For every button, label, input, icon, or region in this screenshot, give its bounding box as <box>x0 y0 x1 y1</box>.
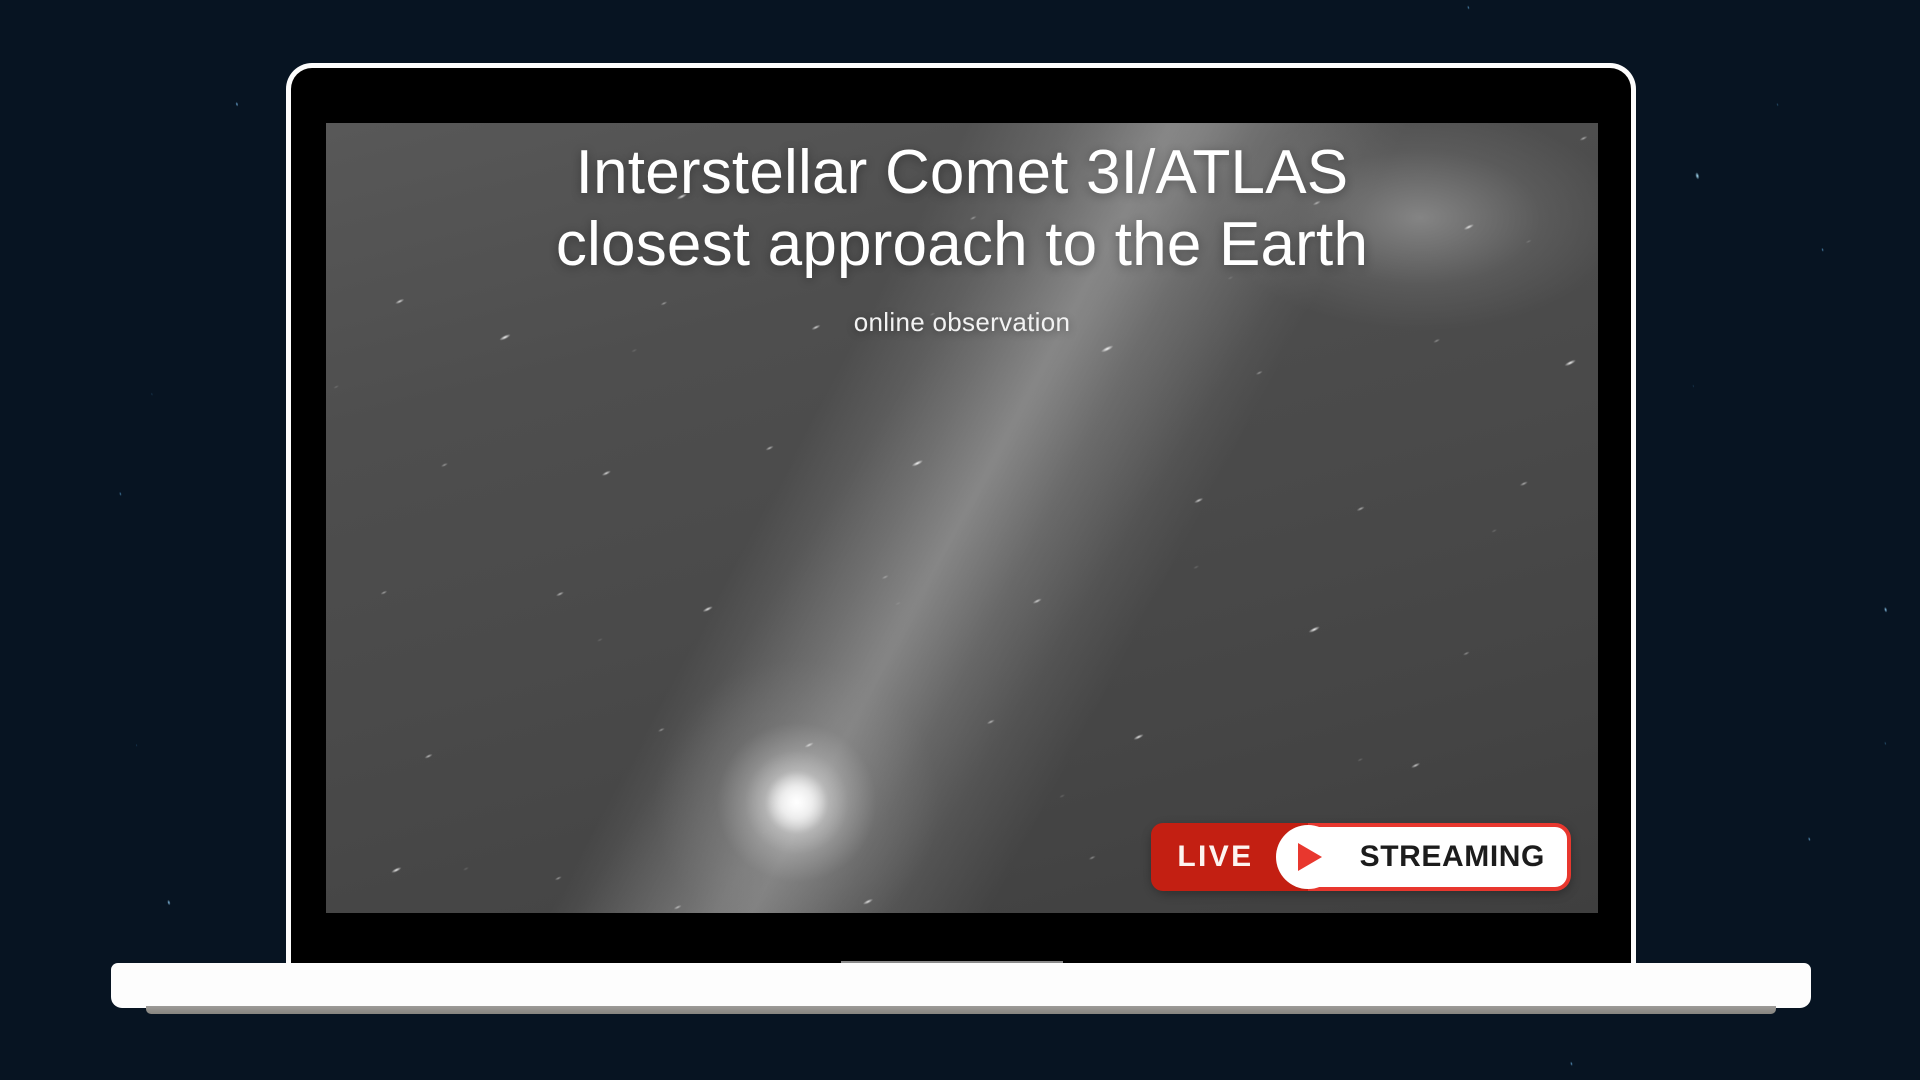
live-streaming-badge[interactable]: LIVE STREAMING <box>1151 823 1571 891</box>
live-badge-section: LIVE <box>1151 823 1307 891</box>
laptop-mockup: Interstellar Comet 3I/ATLAS closest appr… <box>286 63 1636 1003</box>
play-icon[interactable] <box>1276 825 1340 889</box>
laptop-screen: Interstellar Comet 3I/ATLAS closest appr… <box>326 123 1598 913</box>
laptop-base <box>111 963 1811 1008</box>
streaming-label: STREAMING <box>1360 840 1545 874</box>
laptop-lid-bezel: Interstellar Comet 3I/ATLAS closest appr… <box>286 63 1636 963</box>
comet-photograph <box>326 123 1598 913</box>
live-label: LIVE <box>1177 840 1253 874</box>
laptop-base-shadow <box>146 1006 1776 1014</box>
